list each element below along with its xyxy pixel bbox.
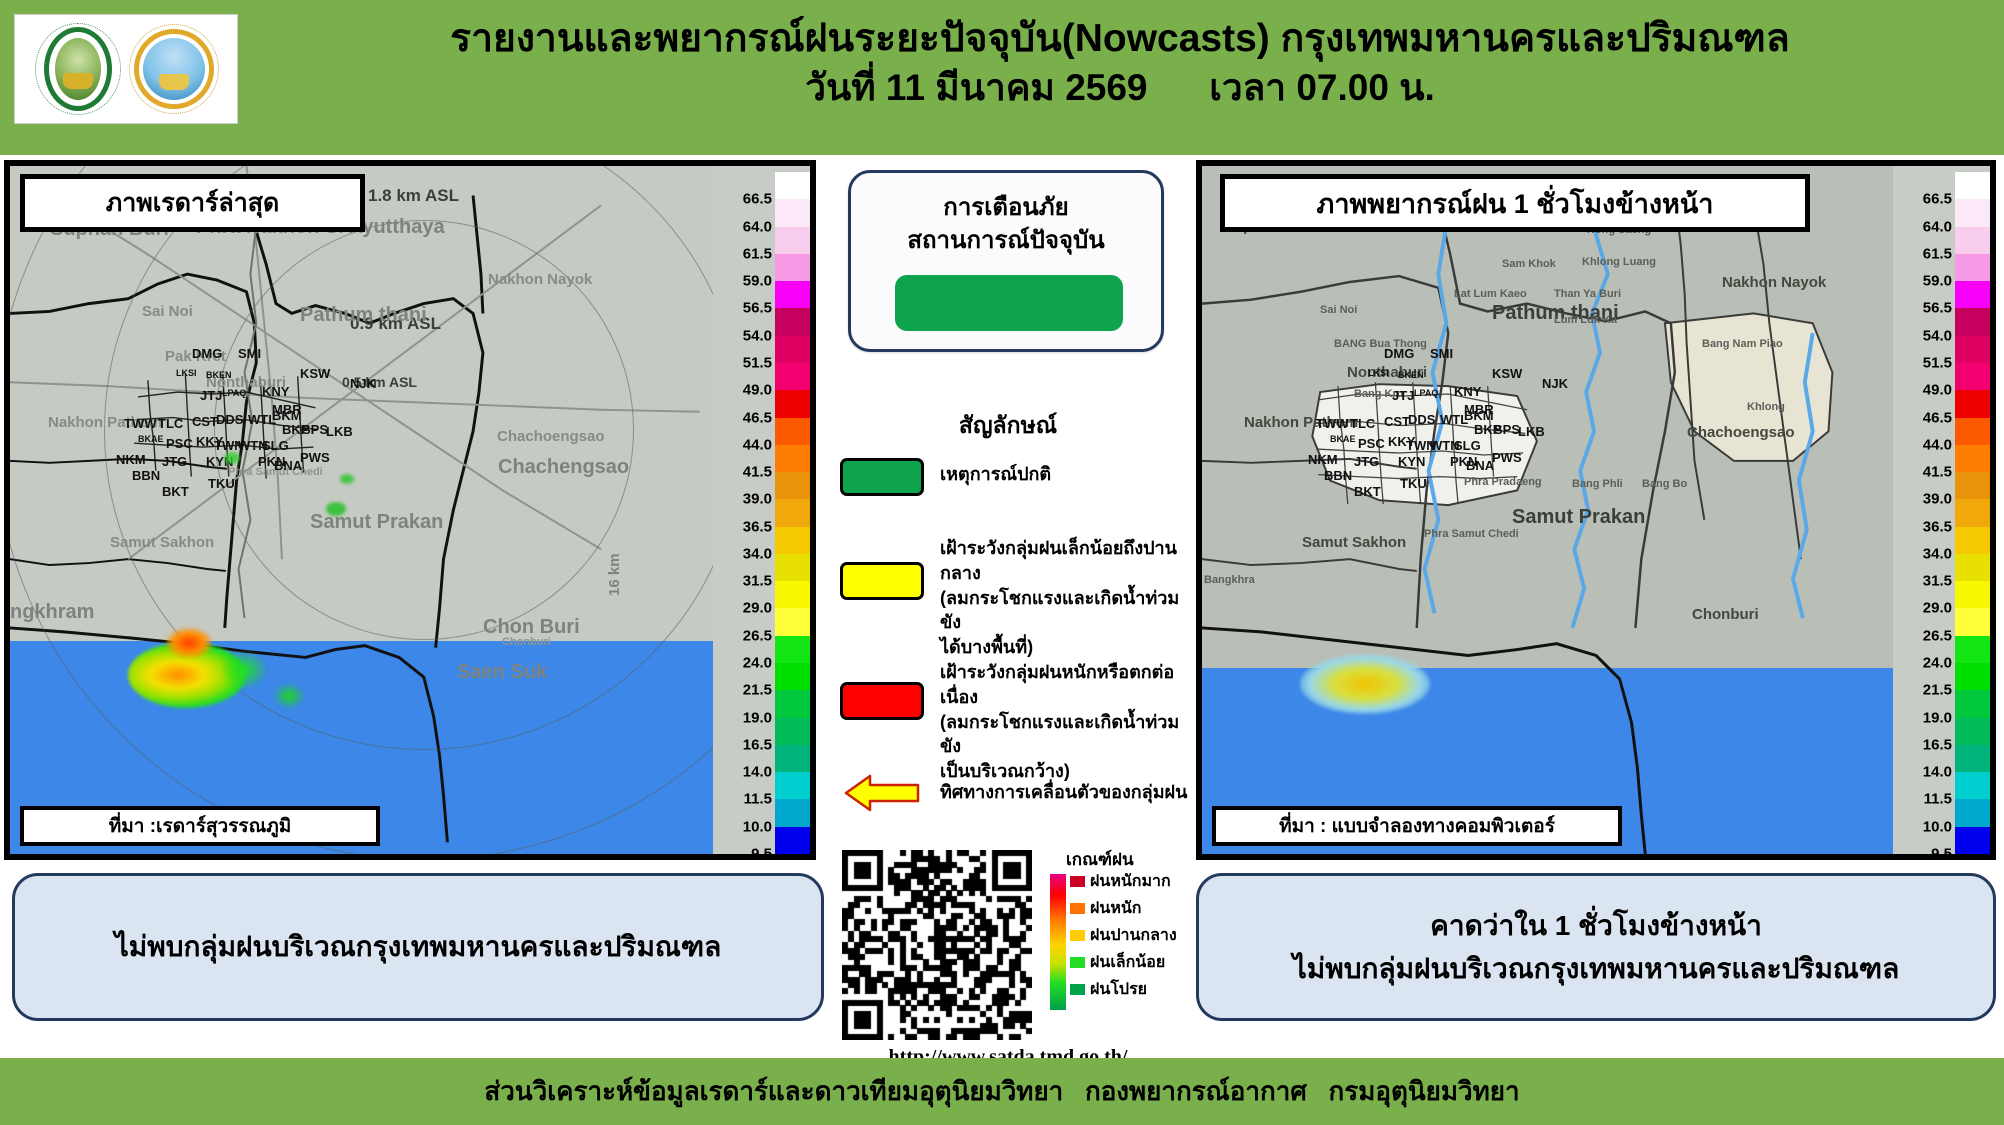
station-code-label: PSC [166,436,193,451]
place-label: Lat Lum Kaeo [1454,288,1527,300]
station-code-label: BKM [1464,408,1494,423]
place-label: Sai Noi [142,303,193,320]
station-code-label: DMG [192,346,222,361]
colorbar-tick: 10.0 [743,818,772,835]
station-code-label: SLG [1454,438,1481,453]
colorbar-tick: 56.5 [1923,300,1952,317]
station-code-label: SMI [238,346,261,361]
place-label: Phra Samut Chedi [1424,528,1519,540]
colorbar-segment [1955,636,1990,664]
colorbar-segment [1955,418,1990,446]
colorbar-segment [775,636,810,664]
colorbar-segment [1955,254,1990,282]
legend-title: สัญลักษณ์ [826,408,1190,444]
place-label: Nakhon Nayok [488,271,592,288]
station-code-label: SPS [302,422,328,437]
place-label: Khlong [1747,401,1785,413]
range-label-16km: 16 km [606,553,623,596]
place-label: Chachengsao [498,456,629,479]
place-label: Bang Phli [1572,478,1623,490]
colorbar-tick-labels: 66.564.061.559.056.554.051.549.046.544.0… [713,166,775,854]
place-label: Bang Bo [1642,478,1687,490]
colorbar-segment [1955,827,1990,855]
center-legend-column: การเตือนภัย สถานการณ์ปัจจุบัน สัญลักษณ์ … [826,160,1190,1050]
station-code-label: JTJ [1392,388,1414,403]
colorbar-segment [1955,308,1990,336]
colorbar-segment [1955,745,1990,773]
colorbar-segment [775,745,810,773]
colorbar-tick: 26.5 [743,627,772,644]
station-code-label: BKAE [138,434,164,444]
station-code-label: LPAQ [222,388,246,398]
colorbar-segment [775,554,810,582]
rain-intensity-scale: เกณฑ์ฝน ฝนหนักมากฝนหนักฝนปานกลางฝนเล็กน้… [1050,850,1190,1020]
colorbar-tick: 61.5 [743,245,772,262]
legend-red-label: เฝ้าระวังกลุ่มฝนหนักหรือตกต่อเนื่อง (ลมก… [940,660,1190,784]
radar-echo-speck-3 [326,502,346,516]
colorbar-segment [775,308,810,336]
station-code-label: KNY [262,384,289,399]
page-header: รายงานและพยากรณ์ฝนระยะปัจจุบัน(Nowcasts)… [0,0,2004,155]
station-code-label: SMI [1430,346,1453,361]
colorbar-tick: 51.5 [743,354,772,371]
rain-scale-chip [1070,876,1085,887]
colorbar-segment [775,663,810,691]
rain-scale-chip [1070,903,1085,914]
legend-red-swatch [840,682,924,720]
colorbar-segment [1955,772,1990,800]
altitude-label-1: 1.8 km ASL [368,186,459,206]
colorbar-segment [775,499,810,527]
station-code-label: TKU [208,476,235,491]
colorbar-tick: 16.5 [743,736,772,753]
station-code-label: BKEN [206,370,232,380]
place-label: Saen Suk [457,661,547,684]
radar-echo-small-2 [274,684,304,708]
station-code-label: TWW [1316,416,1348,431]
radar-latest-panel[interactable]: 1.8 km ASL 0.9 km ASL 0.5 km ASL 16 km S… [4,160,816,860]
rain-forecast-panel[interactable]: Suphan BuriPhra Nakhon Si AyutthayaNong … [1196,160,1996,860]
main-content: 1.8 km ASL 0.9 km ASL 0.5 km ASL 16 km S… [0,155,2004,1055]
station-code-label: DDS [1408,412,1435,427]
station-code-label: KNY [1454,384,1481,399]
colorbar-tick-labels: 66.564.061.559.056.554.051.549.046.544.0… [1893,166,1955,854]
rain-scale-label: ฝนโปรย [1090,977,1147,1002]
radar-echo-small-1 [222,652,266,688]
colorbar-segment [775,172,810,200]
station-code-label: CST [192,414,218,429]
right-summary-line2: ไม่พบกลุ่มฝนบริเวณกรุงเทพมหานครและปริมณฑ… [1293,947,1900,990]
colorbar-segment [775,390,810,418]
place-label: Phra Pradaeng [1464,476,1542,488]
station-code-label: LKB [326,424,353,439]
station-code-label: TLC [158,416,183,431]
place-label: Sai Noi [1320,304,1357,316]
station-code-label: PWS [1492,450,1522,465]
station-code-label: TWW [124,416,156,431]
alert-status-card[interactable]: การเตือนภัย สถานการณ์ปัจจุบัน [848,170,1164,352]
colorbar-tick: 36.5 [743,518,772,535]
station-code-label: BKM [272,408,302,423]
place-label: Samut Sakhon [1302,534,1406,551]
colorbar-segment [1955,581,1990,609]
colorbar-segment [775,472,810,500]
station-code-label: LKB [1518,424,1545,439]
right-summary-box: คาดว่าใน 1 ชั่วโมงข้างหน้า ไม่พบกลุ่มฝนบ… [1196,873,1996,1021]
rain-scale-item: ฝนโปรย [1070,976,1147,1003]
place-label: Bang Nam Piao [1702,338,1783,350]
forecast-echo-main [1300,654,1430,714]
station-code-label: DMG [1384,346,1414,361]
station-code-label: JTG [1354,454,1379,469]
colorbar-tick: 9.5 [751,846,772,861]
colorbar-segment [1955,390,1990,418]
station-code-label: LPAQ [1414,388,1438,398]
station-code-label: NJK [350,376,376,391]
colorbar-tick: 19.0 [1923,709,1952,726]
colorbar-tick: 51.5 [1923,354,1952,371]
colorbar-tick: 31.5 [743,573,772,590]
reflectivity-colorbar: 66.564.061.559.056.554.051.549.046.544.0… [1893,166,1990,854]
legend-arrow-label: ทิศทางการเคลื่อนตัวของกลุ่มฝน [940,780,1190,805]
page-subtitle-datetime: วันที่ 11 มีนาคม 2569 เวลา 07.00 น. [250,66,1990,110]
station-code-label: NKM [1308,452,1338,467]
radar-echo-speck-2 [340,474,354,484]
place-label: Chonburi [1692,606,1759,623]
radar-map-canvas[interactable]: 1.8 km ASL 0.9 km ASL 0.5 km ASL 16 km S… [10,166,810,854]
station-code-label: TKU [1400,476,1427,491]
colorbar-tick: 26.5 [1923,627,1952,644]
colorbar-segment [1955,527,1990,555]
place-label: Sam Khok [1502,258,1556,270]
colorbar-segment [775,827,810,855]
colorbar-tick: 24.0 [743,655,772,672]
station-code-label: CST [1384,414,1410,429]
place-label: Bangkhra [1204,574,1255,586]
rain-scale-chip [1070,930,1085,941]
colorbar-segment [1955,172,1990,200]
colorbar-strip [775,166,810,854]
colorbar-tick: 19.0 [743,709,772,726]
colorbar-tick: 44.0 [1923,436,1952,453]
colorbar-segment [1955,690,1990,718]
place-label: Chachoengsao [497,428,605,445]
colorbar-tick: 39.0 [1923,491,1952,508]
colorbar-tick: 54.0 [1923,327,1952,344]
rain-scale-item: ฝนเล็กน้อย [1070,949,1165,976]
colorbar-segment [1955,472,1990,500]
page-title: รายงานและพยากรณ์ฝนระยะปัจจุบัน(Nowcasts)… [250,16,1990,62]
colorbar-strip [1955,166,1990,854]
station-code-label: BKT [1354,484,1381,499]
colorbar-tick: 39.0 [743,491,772,508]
place-label: Chachoengsao [1687,424,1795,441]
station-code-label: KYN [1398,454,1425,469]
right-panel-source: ที่มา : แบบจำลองทางคอมพิวเตอร์ [1212,806,1622,846]
colorbar-tick: 34.0 [1923,545,1952,562]
colorbar-segment [775,445,810,473]
footer-text: ส่วนวิเคราะห์ข้อมูลเรดาร์และดาวเทียมอุตุ… [484,1071,1519,1112]
place-label: Than Ya Buri [1554,288,1621,300]
rain-scale-label: ฝนเล็กน้อย [1090,950,1165,975]
colorbar-segment [775,718,810,746]
movement-arrow-icon [840,772,924,814]
colorbar-segment [775,227,810,255]
legend-row-watch-light: เฝ้าระวังกลุ่มฝนเล็กน้อยถึงปานกลาง (ลมกร… [840,536,1190,636]
left-panel-source: ที่มา :เรดาร์สุวรรณภูมิ [20,806,380,846]
radar-echo-speck-1 [224,452,240,464]
colorbar-segment [1955,499,1990,527]
colorbar-tick: 59.0 [743,273,772,290]
colorbar-tick: 29.0 [1923,600,1952,617]
station-code-label: BBN [1324,468,1352,483]
station-code-label: LKSI [1368,368,1389,378]
colorbar-segment [1955,663,1990,691]
colorbar-segment [775,363,810,391]
legend-row-movement: ทิศทางการเคลื่อนตัวของกลุ่มฝน [840,772,1190,822]
colorbar-segment [775,772,810,800]
colorbar-segment [1955,445,1990,473]
colorbar-segment [775,418,810,446]
left-summary-text: ไม่พบกลุ่มฝนบริเวณกรุงเทพมหานครและปริมณฑ… [115,925,722,969]
rain-scale-chip [1070,957,1085,968]
colorbar-tick: 9.5 [1931,846,1952,861]
legend-row-normal: เหตุการณ์ปกติ [840,456,1190,502]
colorbar-tick: 66.5 [1923,191,1952,208]
legend-green-swatch [840,458,924,496]
colorbar-tick: 59.0 [1923,273,1952,290]
place-label: Samut Prakan [1512,506,1645,529]
station-code-label: BKT [162,484,189,499]
tmd-seal-right [128,21,220,117]
colorbar-tick: 21.5 [743,682,772,699]
colorbar-tick: 29.0 [743,600,772,617]
legend-green-label: เหตุการณ์ปกติ [940,462,1190,487]
rain-scale-gradient-bar [1050,874,1066,1010]
radar-echo-core [166,628,212,658]
colorbar-segment [775,336,810,364]
legend-yellow-swatch [840,562,924,600]
page-footer: ส่วนวิเคราะห์ข้อมูลเรดาร์และดาวเทียมอุตุ… [0,1058,2004,1125]
colorbar-tick: 46.5 [1923,409,1952,426]
colorbar-tick: 44.0 [743,436,772,453]
station-code-label: LKSI [176,368,197,378]
department-seal-left [32,21,124,117]
rain-scale-item: ฝนหนักมาก [1070,868,1171,895]
colorbar-tick: 10.0 [1923,818,1952,835]
station-code-label: BKEN [1398,370,1424,380]
colorbar-segment [1955,554,1990,582]
station-code-label: KSW [1492,366,1522,381]
station-code-label: JTG [162,454,187,469]
colorbar-segment [775,581,810,609]
colorbar-tick: 49.0 [743,382,772,399]
station-code-label: PWS [300,450,330,465]
right-summary-line1: คาดว่าใน 1 ชั่วโมงข้างหน้า [1430,904,1762,947]
station-code-label: NKM [116,452,146,467]
station-code-label: BNA [1466,458,1494,473]
colorbar-tick: 41.5 [743,464,772,481]
station-code-label: BNA [274,458,302,473]
colorbar-segment [775,799,810,827]
colorbar-segment [775,608,810,636]
colorbar-tick: 64.0 [743,218,772,235]
colorbar-tick: 21.5 [1923,682,1952,699]
alert-card-title: การเตือนภัย สถานการณ์ปัจจุบัน [851,191,1161,257]
rain-scale-label: ฝนปานกลาง [1090,923,1177,948]
rain-scale-label: ฝนหนัก [1090,896,1141,921]
rain-scale-label: ฝนหนักมาก [1090,869,1171,894]
colorbar-segment [1955,608,1990,636]
station-code-label: KSW [300,366,330,381]
place-label: Samut Sakhon [110,534,214,551]
colorbar-segment [775,690,810,718]
colorbar-tick: 46.5 [743,409,772,426]
colorbar-tick: 54.0 [743,327,772,344]
legend-row-watch-heavy: เฝ้าระวังกลุ่มฝนหนักหรือตกต่อเนื่อง (ลมก… [840,660,1190,760]
rain-scale-chip [1070,984,1085,995]
colorbar-segment [775,199,810,227]
colorbar-segment [1955,199,1990,227]
left-summary-box: ไม่พบกลุ่มฝนบริเวณกรุงเทพมหานครและปริมณฑ… [12,873,824,1021]
place-label: ngkhram [10,601,94,624]
colorbar-tick: 31.5 [1923,573,1952,590]
legend-yellow-label: เฝ้าระวังกลุ่มฝนเล็กน้อยถึงปานกลาง (ลมกร… [940,536,1190,660]
place-label: Nakhon Nayok [1722,274,1826,291]
forecast-map-canvas[interactable]: Suphan BuriPhra Nakhon Si AyutthayaNong … [1202,166,1990,854]
colorbar-segment [775,527,810,555]
colorbar-tick: 64.0 [1923,218,1952,235]
station-code-label: TLC [1350,416,1375,431]
alert-title-line2: สถานการณ์ปัจจุบัน [851,224,1161,257]
colorbar-tick: 14.0 [743,764,772,781]
qr-code[interactable] [842,850,1032,1040]
colorbar-tick: 11.5 [1924,791,1952,808]
colorbar-tick: 49.0 [1923,382,1952,399]
colorbar-tick: 16.5 [1923,736,1952,753]
colorbar-tick: 61.5 [1923,245,1952,262]
station-code-label: PSC [1358,436,1385,451]
reflectivity-colorbar: 66.564.061.559.056.554.051.549.046.544.0… [713,166,810,854]
left-panel-caption: ภาพเรดาร์ล่าสุด [20,174,365,232]
colorbar-segment [1955,336,1990,364]
station-code-label: JTJ [200,388,222,403]
colorbar-segment [775,281,810,309]
colorbar-tick: 34.0 [743,545,772,562]
colorbar-tick: 41.5 [1923,464,1952,481]
place-label: Chonburi [502,636,551,648]
right-panel-caption: ภาพพยากรณ์ฝน 1 ชั่วโมงข้างหน้า [1220,174,1810,232]
colorbar-segment [1955,363,1990,391]
place-label: Pathum thani [300,304,427,327]
colorbar-segment [1955,718,1990,746]
logo-box [14,14,238,124]
colorbar-segment [775,254,810,282]
colorbar-tick: 56.5 [743,300,772,317]
header-title-wrap: รายงานและพยากรณ์ฝนระยะปัจจุบัน(Nowcasts)… [250,16,1990,110]
colorbar-tick: 36.5 [1923,518,1952,535]
rain-scale-item: ฝนหนัก [1070,895,1141,922]
place-label: Lum Luk Ka [1554,314,1617,326]
alert-status-swatch [895,275,1123,331]
colorbar-segment [1955,227,1990,255]
alert-title-line1: การเตือนภัย [851,191,1161,224]
place-label: Khlong Luang [1582,256,1656,268]
station-code-label: BBN [132,468,160,483]
colorbar-tick: 66.5 [743,191,772,208]
station-code-label: SPS [1494,422,1520,437]
colorbar-tick: 14.0 [1923,764,1952,781]
colorbar-segment [1955,281,1990,309]
colorbar-tick: 11.5 [744,791,772,808]
rain-scale-item: ฝนปานกลาง [1070,922,1177,949]
station-code-label: SLG [262,438,289,453]
station-code-label: DDS [216,412,243,427]
station-code-label: BKAE [1330,434,1356,444]
colorbar-segment [1955,799,1990,827]
station-code-label: NJK [1542,376,1568,391]
colorbar-tick: 24.0 [1923,655,1952,672]
